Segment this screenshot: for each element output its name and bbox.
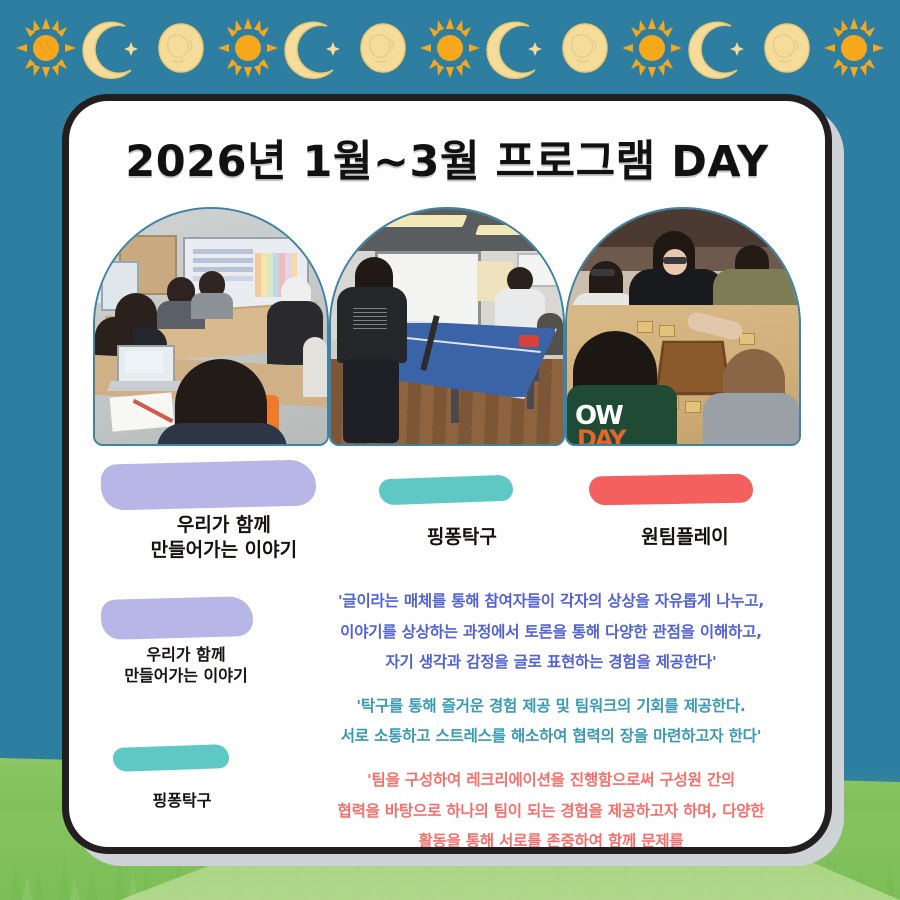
poster-canvas: 2026년 1월~3월 프로그램 DAY <box>0 0 900 900</box>
sun-icon <box>822 16 886 80</box>
page-title: 2026년 1월~3월 프로그램 DAY <box>69 127 825 189</box>
crescent-moon-icon <box>485 16 549 80</box>
paragraph-line: 서로 소통하고 스트레스를 해소하여 협력의 장을 마련하고자 한다' <box>299 721 803 751</box>
photo-pingpong <box>329 207 565 446</box>
paragraph-storytelling: '글이라는 매체를 통해 참여자들이 각자의 상상을 자유롭게 나누고, 이야기… <box>299 586 803 677</box>
full-moon-icon <box>553 16 617 80</box>
caption-highlight-red <box>589 474 753 506</box>
paragraph-line: 활동을 통해 서로를 존중하여 함께 문제를 <box>299 826 803 854</box>
tag-storytelling: 우리가 함께 만들어가는 이야기 <box>95 598 277 688</box>
tag-highlight-teal <box>113 744 230 772</box>
sun-icon <box>620 16 684 80</box>
caption-storytelling: 우리가 함께 만들어가는 이야기 <box>95 460 353 566</box>
crescent-moon-icon <box>687 16 751 80</box>
caption-highlight-teal <box>378 475 513 506</box>
sun-icon <box>216 16 280 80</box>
caption-pingpong: 핑퐁탁구 <box>353 472 571 566</box>
sun-icon <box>14 16 78 80</box>
tag-pingpong: 핑퐁탁구 <box>101 745 263 814</box>
crescent-moon-icon <box>283 16 347 80</box>
paragraph-line: 이야기를 상상하는 과정에서 토론을 통해 다양한 관점을 이해하고, <box>299 617 803 647</box>
paragraph-oneteamplay: '팀을 구성하여 레크리에이션을 진행함으로써 구성원 간의 협력을 바탕으로 … <box>299 765 803 854</box>
caption-text: 원팀플레이 <box>641 526 728 548</box>
full-moon-icon <box>351 16 415 80</box>
caption-text: 우리가 함께 만들어가는 이야기 <box>151 514 297 561</box>
caption-highlight-purple <box>100 459 316 510</box>
tag-column: 우리가 함께 만들어가는 이야기 핑퐁탁구 원팀플레이 <box>85 582 293 854</box>
photo-caption-row: 우리가 함께 만들어가는 이야기 핑퐁탁구 원팀플레이 <box>69 446 825 566</box>
sun-icon <box>418 16 482 80</box>
full-moon-icon <box>755 16 819 80</box>
tag-highlight-purple <box>101 596 254 640</box>
tag-text: 핑퐁탁구 <box>153 791 212 810</box>
caption-text: 핑퐁탁구 <box>427 526 497 548</box>
poster-card: 2026년 1월~3월 프로그램 DAY <box>62 94 832 854</box>
paragraph-line: '팀을 구성하여 레크리에이션을 진행함으로써 구성원 간의 <box>299 765 803 795</box>
paragraph-line: 자기 생각과 감정을 글로 표현하는 경험을 제공한다' <box>299 647 803 677</box>
description-section: 우리가 함께 만들어가는 이야기 핑퐁탁구 원팀플레이 '글이라는 매체를 통해… <box>69 566 825 854</box>
sky-icon-strip <box>0 0 900 96</box>
full-moon-icon <box>149 16 213 80</box>
photo-row: OWDAY <box>69 189 825 446</box>
crescent-moon-icon <box>81 16 145 80</box>
paragraph-pingpong: '탁구를 통해 즐거운 경험 제공 및 팀워크의 기회를 제공한다. 서로 소통… <box>299 691 803 751</box>
paragraph-line: 협력을 바탕으로 하나의 팀이 되는 경험을 제공하고자 하며, 다양한 <box>299 796 803 826</box>
tag-text: 우리가 함께 만들어가는 이야기 <box>124 645 247 685</box>
photo-storytelling <box>93 207 329 446</box>
paragraph-line: '탁구를 통해 즐거운 경험 제공 및 팀워크의 기회를 제공한다. <box>299 691 803 721</box>
paragraph-column: '글이라는 매체를 통해 참여자들이 각자의 상상을 자유롭게 나누고, 이야기… <box>293 582 803 854</box>
photo-boardgame: OWDAY <box>565 207 801 446</box>
paragraph-line: '글이라는 매체를 통해 참여자들이 각자의 상상을 자유롭게 나누고, <box>299 586 803 616</box>
caption-oneteamplay: 원팀플레이 <box>571 472 799 566</box>
